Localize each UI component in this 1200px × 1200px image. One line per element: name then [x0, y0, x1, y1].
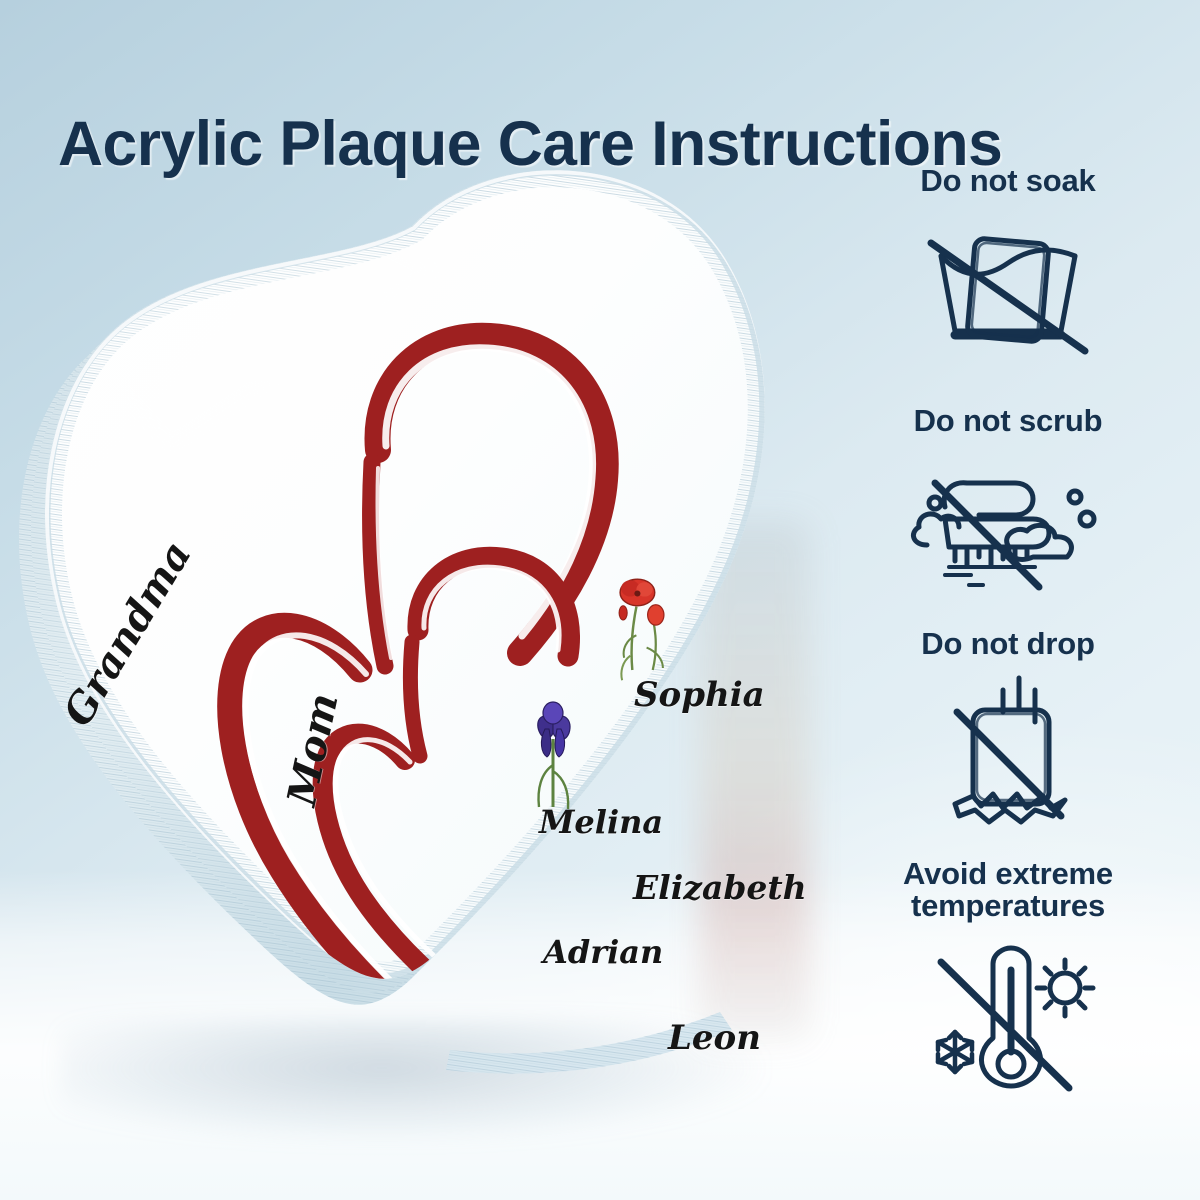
care-label-line-2: temperatures [911, 888, 1105, 923]
no-temperature-icon [893, 926, 1123, 1096]
care-label-avoid-extreme-temperatures: Avoid extreme temperatures [848, 858, 1168, 922]
name-leon: Leon [668, 1018, 761, 1058]
care-instruction-do-not-drop: Do not drop [848, 628, 1168, 834]
care-label-line-1: Avoid extreme [903, 856, 1113, 891]
scene: Acrylic Plaque Care Instructions [0, 0, 1200, 1200]
care-instruction-avoid-extreme-temperatures: Avoid extreme temperatures [848, 858, 1168, 1096]
name-adrian: Adrian [543, 933, 663, 971]
no-drop-icon [893, 664, 1123, 834]
strikethrough-line [935, 483, 1039, 587]
care-instruction-do-not-soak: Do not soak [848, 165, 1168, 361]
care-label-do-not-scrub: Do not scrub [848, 405, 1168, 437]
name-melina: Melina [539, 803, 663, 841]
care-label-do-not-drop: Do not drop [848, 628, 1168, 660]
no-scrub-icon [883, 441, 1133, 591]
name-sophia: Sophia [634, 675, 765, 715]
name-elizabeth: Elizabeth [633, 868, 807, 907]
no-soak-icon [893, 201, 1123, 361]
acrylic-heart-plaque: Grandma Mom Sophia Melina Elizabeth Adri… [20, 150, 810, 1090]
care-instruction-do-not-scrub: Do not scrub [848, 405, 1168, 591]
care-label-do-not-soak: Do not soak [848, 165, 1168, 197]
